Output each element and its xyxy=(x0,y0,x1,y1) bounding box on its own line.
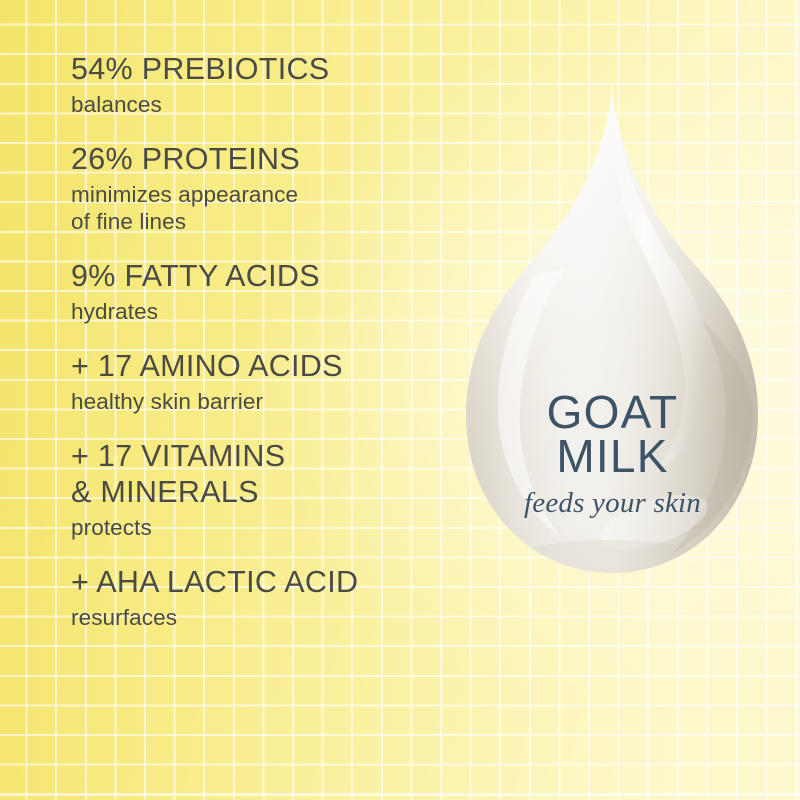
ingredient-benefit: protects xyxy=(71,514,451,541)
ingredient-benefit: minimizes appearance of fine lines xyxy=(71,181,451,235)
ingredient-title: 54% PREBIOTICS xyxy=(71,52,451,88)
infographic-canvas: 54% PREBIOTICS balances 26% PROTEINS min… xyxy=(0,0,800,800)
droplet-icon xyxy=(440,70,785,650)
ingredient-list: 54% PREBIOTICS balances 26% PROTEINS min… xyxy=(71,52,451,631)
list-item: + 17 VITAMINS & MINERALS protects xyxy=(71,439,451,541)
ingredient-title: + AHA LACTIC ACID xyxy=(71,565,451,601)
list-item: 9% FATTY ACIDS hydrates xyxy=(71,259,451,325)
ingredient-benefit: healthy skin barrier xyxy=(71,388,451,415)
list-item: 54% PREBIOTICS balances xyxy=(71,52,451,118)
ingredient-benefit: balances xyxy=(71,91,451,118)
ingredient-title: + 17 VITAMINS & MINERALS xyxy=(71,439,451,511)
list-item: + 17 AMINO ACIDS healthy skin barrier xyxy=(71,349,451,415)
list-item: + AHA LACTIC ACID resurfaces xyxy=(71,565,451,631)
ingredient-title: 9% FATTY ACIDS xyxy=(71,259,451,295)
milk-droplet-graphic xyxy=(440,70,785,650)
droplet-base-shading xyxy=(492,540,732,600)
list-item: 26% PROTEINS minimizes appearance of fin… xyxy=(71,142,451,235)
ingredient-title: + 17 AMINO ACIDS xyxy=(71,349,451,385)
ingredient-benefit: resurfaces xyxy=(71,604,451,631)
ingredient-title: 26% PROTEINS xyxy=(71,142,451,178)
ingredient-benefit: hydrates xyxy=(71,298,451,325)
